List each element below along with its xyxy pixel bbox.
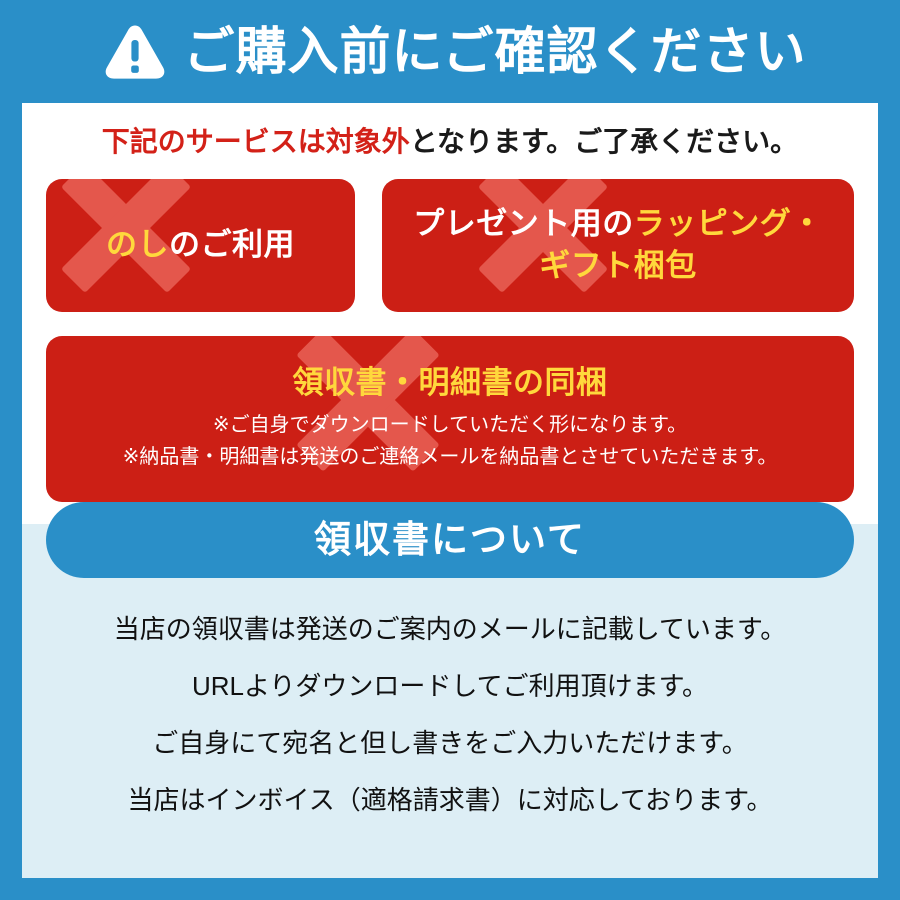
- receipt-info-line: URLよりダウンロードしてご利用頂けます。: [46, 669, 854, 704]
- notice-panel: 下記のサービスは対象外となります。ご了承ください。 のしのご利用: [22, 103, 878, 878]
- receipt-card-note-1: ※ご自身でダウンロードしていただく形になります。: [213, 409, 687, 441]
- receipt-info-line: 当店はインボイス（適格請求書）に対応しております。: [46, 783, 854, 818]
- subtitle-plain: となります。ご了承ください。: [410, 126, 798, 157]
- wrapping-line2-highlight: ギフト梱包: [539, 248, 697, 283]
- section-heading-pill: 領収書について: [46, 502, 854, 578]
- wrapping-line1-highlight: ラッピング・: [634, 206, 823, 241]
- excluded-services-section: 下記のサービスは対象外となります。ご了承ください。 のしのご利用: [22, 103, 878, 502]
- subtitle-accent: 下記のサービスは対象外: [102, 126, 410, 157]
- page-title: ご購入前にご確認ください: [184, 26, 807, 77]
- excluded-card-wrapping-label: プレゼント用のラッピング・ ギフト梱包: [413, 203, 823, 287]
- excluded-card-noshi-label: のしのご利用: [106, 224, 295, 266]
- receipt-card-note-2: ※納品書・明細書は発送のご連絡メールを納品書とさせていただきます。: [123, 441, 778, 473]
- receipt-card-title: 領収書・明細書の同梱: [293, 364, 608, 401]
- noshi-highlight: のし: [106, 227, 169, 262]
- wrapping-line1-plain: プレゼント用の: [413, 206, 634, 241]
- purchase-notice-banner: ご購入前にご確認ください 下記のサービスは対象外となります。ご了承ください。 の…: [0, 0, 900, 900]
- excluded-card-noshi: のしのご利用: [46, 179, 355, 312]
- warning-triangle-icon: [104, 23, 166, 81]
- banner-header: ご購入前にご確認ください: [0, 0, 900, 103]
- excluded-card-row: のしのご利用 プレゼント用のラッピング・ ギフト梱包: [46, 179, 854, 312]
- noshi-rest: のご利用: [169, 227, 295, 262]
- receipt-info-section: 領収書について 当店の領収書は発送のご案内のメールに記載しています。 URLより…: [22, 524, 878, 878]
- receipt-info-text: 当店の領収書は発送のご案内のメールに記載しています。 URLよりダウンロードして…: [46, 612, 854, 840]
- receipt-info-line: 当店の領収書は発送のご案内のメールに記載しています。: [46, 612, 854, 647]
- subtitle: 下記のサービスは対象外となります。ご了承ください。: [46, 125, 854, 159]
- excluded-card-receipt: 領収書・明細書の同梱 ※ご自身でダウンロードしていただく形になります。 ※納品書…: [46, 336, 854, 502]
- excluded-card-wrapping: プレゼント用のラッピング・ ギフト梱包: [382, 179, 854, 312]
- receipt-info-line: ご自身にて宛名と但し書きをご入力いただけます。: [46, 726, 854, 761]
- section-heading-label: 領収書について: [314, 521, 586, 558]
